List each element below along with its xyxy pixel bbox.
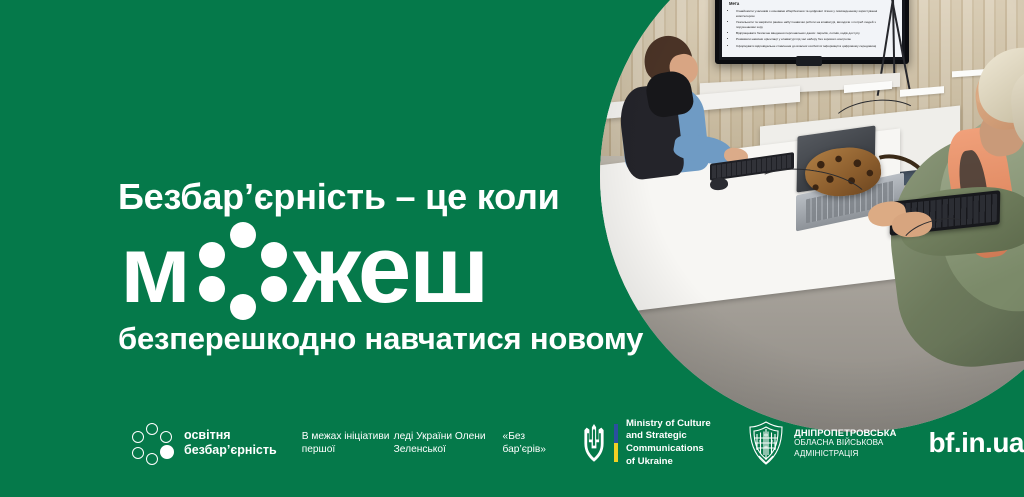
website-url[interactable]: bf.in.ua xyxy=(928,427,1024,459)
footer-logo-bar: освітня безбар’єрність В межах ініціатив… xyxy=(0,411,1024,475)
dot xyxy=(199,242,225,268)
headline-wordmark: м жеш xyxy=(120,224,643,316)
wordmark-prefix: м xyxy=(120,224,189,316)
dot-outline xyxy=(146,453,158,465)
ministry-text: Ministry of Culture and Strategic Commun… xyxy=(626,418,719,468)
headline-line-3: безперешкодно навчатися новому xyxy=(118,320,643,358)
dot xyxy=(199,276,225,302)
logo-dnipropetrovsk-administration[interactable]: ДНІПРОПЕТРОВСЬКА ОБЛАСНА ВІЙСЬКОВА АДМІН… xyxy=(746,420,896,466)
administration-text: ДНІПРОПЕТРОВСЬКА ОБЛАСНА ВІЙСЬКОВА АДМІН… xyxy=(794,427,896,460)
ministry-line-3: of Ukraine xyxy=(626,456,719,469)
slide-bullet: Відпрацювати безпечне введення персональ… xyxy=(736,31,894,36)
ministry-line-2: and Strategic Communications xyxy=(626,430,719,455)
initiative-line-3: «Без бар’єрів» xyxy=(503,430,554,456)
dot-outline xyxy=(146,423,158,435)
initiative-line-2: леді України Олени Зеленської xyxy=(394,430,503,456)
initiative-line-1: В межах ініціативи першої xyxy=(302,430,394,456)
classroom-photo: НАВЧАЛЬНИЙ КУРС З ОСНОВ КОМП’ЮТЕРНОЇ ГРА… xyxy=(600,0,1024,432)
dot-filled xyxy=(160,445,174,459)
slide-bullet: Узагальнити та закріпити раніше набуті н… xyxy=(736,20,894,30)
braille-dot-ring-icon xyxy=(195,222,291,318)
dot xyxy=(230,222,256,248)
slide-bullet: Сформувати відповідальне ставлення до вл… xyxy=(736,44,894,49)
slide-bullet: Розвивати навички орієнтації у клавіатур… xyxy=(736,37,894,42)
administration-line-2: ОБЛАСНА ВІЙСЬКОВА xyxy=(794,438,896,449)
slide-bullet-list: Ознайомити учасників з основами кібербез… xyxy=(731,9,894,50)
ministry-line-1: Ministry of Culture xyxy=(626,418,719,431)
dot-outline xyxy=(132,447,144,459)
dot-outline xyxy=(132,431,144,443)
dot xyxy=(261,276,287,302)
ukraine-flag-bar-icon xyxy=(614,424,618,462)
screen-stand xyxy=(796,56,822,66)
slide-content: НАВЧАЛЬНИЙ КУРС З ОСНОВ КОМП’ЮТЕРНОЇ ГРА… xyxy=(722,0,902,57)
administration-line-3: АДМІНІСТРАЦІЯ xyxy=(794,449,896,460)
presentation-screen: НАВЧАЛЬНИЙ КУРС З ОСНОВ КОМП’ЮТЕРНОЇ ГРА… xyxy=(715,0,909,64)
logo-education-line-2: безбар’єрність xyxy=(184,443,277,458)
dot-ring-logo-icon xyxy=(131,423,175,463)
banner-root: НАВЧАЛЬНИЙ КУРС З ОСНОВ КОМП’ЮТЕРНОЇ ГРА… xyxy=(0,0,1024,497)
logo-ministry-of-culture[interactable]: Ministry of Culture and Strategic Commun… xyxy=(581,418,719,468)
logo-education-barrier-free[interactable]: освітня безбар’єрність xyxy=(131,423,277,463)
wordmark-suffix: жеш xyxy=(293,224,487,316)
logo-education-text: освітня безбар’єрність xyxy=(184,428,277,458)
dot-outline xyxy=(160,431,172,443)
headline-block: Безбар’єрність – це коли м жеш безперешк… xyxy=(118,176,643,358)
ukraine-trident-icon xyxy=(581,423,607,463)
logo-education-line-1: освітня xyxy=(184,428,277,443)
slide-section-label: Мета xyxy=(729,1,739,6)
administration-line-1: ДНІПРОПЕТРОВСЬКА xyxy=(794,427,896,439)
slide-bullet: Ознайомити учасників з основами кібербез… xyxy=(736,9,894,19)
dot xyxy=(261,242,287,268)
headline-line-1: Безбар’єрність – це коли xyxy=(118,176,643,218)
dot xyxy=(230,294,256,320)
dnipropetrovsk-coat-of-arms-icon xyxy=(746,420,786,466)
photo-circular-mask: НАВЧАЛЬНИЙ КУРС З ОСНОВ КОМП’ЮТЕРНОЇ ГРА… xyxy=(600,0,1024,432)
initiative-text-block: В межах ініціативи першої леді України О… xyxy=(302,430,554,456)
